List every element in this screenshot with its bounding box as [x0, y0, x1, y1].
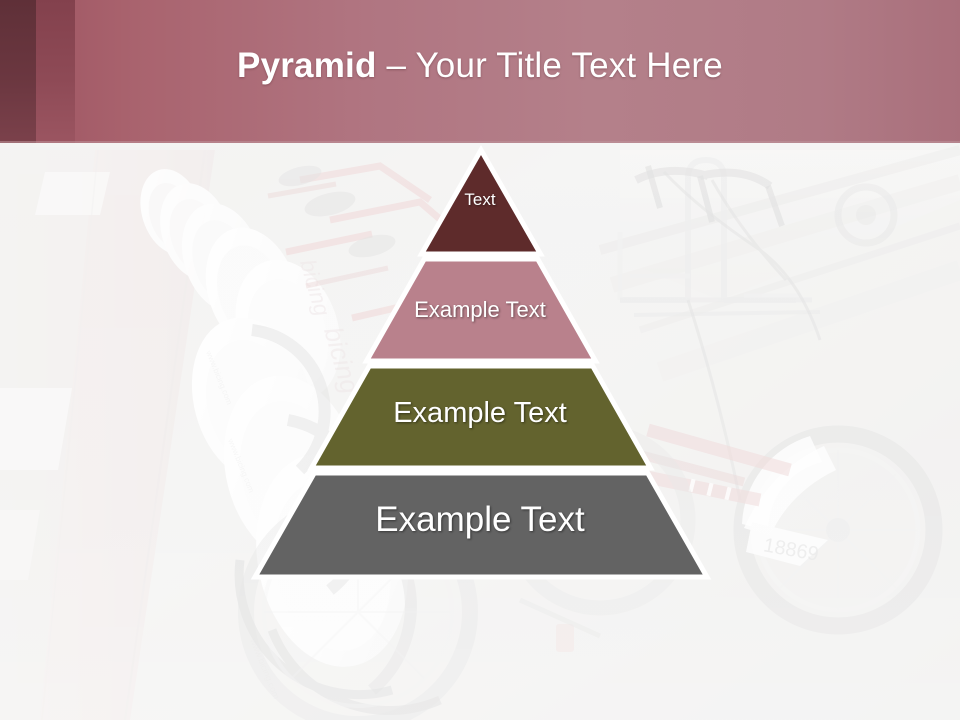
pyramid-tier-1-shape[interactable] [422, 150, 541, 254]
pyramid-tier-3-shape[interactable] [312, 366, 651, 468]
pyramid-diagram[interactable] [0, 0, 960, 720]
pyramid-tier-2-shape[interactable] [367, 259, 596, 361]
presentation-slide: bicing bicing bicing www.bicing.com www.… [0, 0, 960, 720]
pyramid-tier-4-shape[interactable] [255, 473, 707, 577]
